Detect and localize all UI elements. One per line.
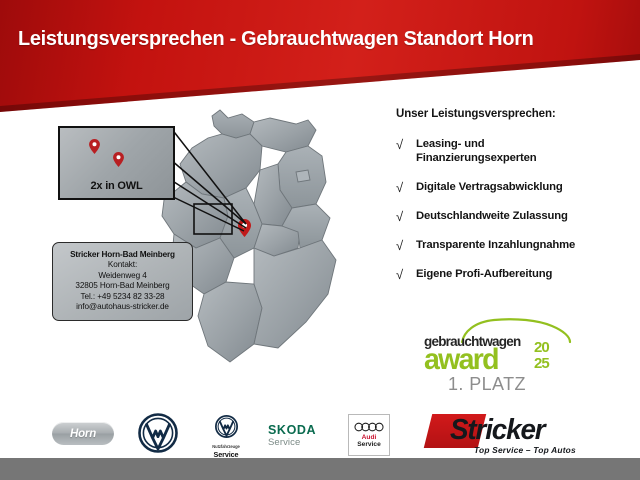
promise-item-1-line2: Finanzierungsexperten bbox=[416, 151, 537, 165]
contact-line-phone: Tel.: +49 5234 82 33-28 bbox=[57, 292, 188, 303]
check-icon: √ bbox=[396, 267, 416, 281]
promise-item-2-label: Digitale Vertragsabwicklung bbox=[416, 180, 563, 194]
audi-label: Audi bbox=[362, 434, 377, 441]
header-banner bbox=[0, 0, 640, 112]
promise-list: Unser Leistungsversprechen: √ Leasing- u… bbox=[396, 108, 634, 281]
check-icon: √ bbox=[396, 180, 416, 194]
inset-map-pin-2 bbox=[113, 152, 124, 167]
page-title: Leistungsversprechen - Gebrauchtwagen St… bbox=[18, 27, 534, 51]
horn-logo-label: Horn bbox=[52, 422, 114, 445]
promise-item-4-label: Transparente Inzahlungnahme bbox=[416, 238, 575, 252]
contact-card: Stricker Horn-Bad Meinberg Kontakt: Weid… bbox=[52, 242, 193, 321]
skoda-service-logo: SKODA Service bbox=[268, 424, 330, 448]
promise-item-5-label: Eigene Profi-Aufbereitung bbox=[416, 267, 552, 281]
vw-nutzfahrzeuge-logo: Nutzfahrzeuge Service bbox=[204, 415, 248, 459]
map-pin-main bbox=[238, 219, 251, 237]
check-icon: √ bbox=[396, 137, 416, 151]
horn-logo: Horn bbox=[52, 422, 114, 445]
award-word: award bbox=[424, 345, 498, 375]
promise-item-3: √ Deutschlandweite Zulassung bbox=[396, 209, 634, 223]
check-icon: √ bbox=[396, 238, 416, 252]
award-year-top: 20 bbox=[534, 340, 549, 356]
contact-line-street: Weidenweg 4 bbox=[57, 271, 188, 282]
owl-inset-callout: 2x in OWL bbox=[58, 126, 175, 200]
promise-item-1: √ Leasing- und Finanzierungsexperten bbox=[396, 137, 634, 165]
slide-canvas: Leistungsversprechen - Gebrauchtwagen St… bbox=[0, 0, 640, 480]
award-year-bottom: 25 bbox=[534, 356, 549, 372]
promise-heading: Unser Leistungsversprechen: bbox=[396, 108, 634, 120]
brand-logo-row: Horn Nutzfahrzeuge Service SKODA Service bbox=[0, 404, 640, 458]
promise-item-1-label: Leasing- und Finanzierungsexperten bbox=[416, 137, 537, 165]
audi-rings-icon bbox=[354, 422, 384, 432]
contact-name: Stricker Horn-Bad Meinberg bbox=[57, 250, 188, 259]
promise-item-4: √ Transparente Inzahlungnahme bbox=[396, 238, 634, 252]
contact-line-email: info@autohaus-stricker.de bbox=[57, 302, 188, 313]
award-rank: 1. PLATZ bbox=[448, 374, 526, 395]
promise-item-5: √ Eigene Profi-Aufbereitung bbox=[396, 267, 634, 281]
award-badge: gebrauchtwagen award 20 25 1. PLATZ bbox=[424, 318, 582, 396]
stricker-logo: Stricker Top Service – Top Autos bbox=[428, 410, 600, 456]
footer-bar bbox=[0, 458, 640, 480]
volkswagen-logo-icon bbox=[138, 413, 178, 453]
audi-service-logo: Audi Service bbox=[348, 414, 390, 456]
vw-nutzfahrzeuge-label: Nutzfahrzeuge bbox=[204, 444, 248, 449]
award-year: 20 25 bbox=[534, 340, 549, 371]
promise-item-1-line1: Leasing- und bbox=[416, 137, 537, 151]
stricker-tagline: Top Service – Top Autos bbox=[474, 445, 576, 455]
inset-label: 2x in OWL bbox=[60, 180, 173, 192]
promise-item-3-label: Deutschlandweite Zulassung bbox=[416, 209, 568, 223]
contact-line-city: 32805 Horn-Bad Meinberg bbox=[57, 281, 188, 292]
stricker-logo-label: Stricker bbox=[450, 414, 544, 446]
contact-line-kontakt: Kontakt: bbox=[57, 260, 188, 271]
check-icon: √ bbox=[396, 209, 416, 223]
audi-service-label: Service bbox=[357, 441, 380, 449]
volkswagen-roundel-icon bbox=[215, 415, 238, 438]
skoda-service-label: Service bbox=[268, 437, 330, 448]
skoda-label: SKODA bbox=[268, 424, 330, 437]
inset-map-pin-1 bbox=[89, 139, 100, 154]
promise-item-2: √ Digitale Vertragsabwicklung bbox=[396, 180, 634, 194]
